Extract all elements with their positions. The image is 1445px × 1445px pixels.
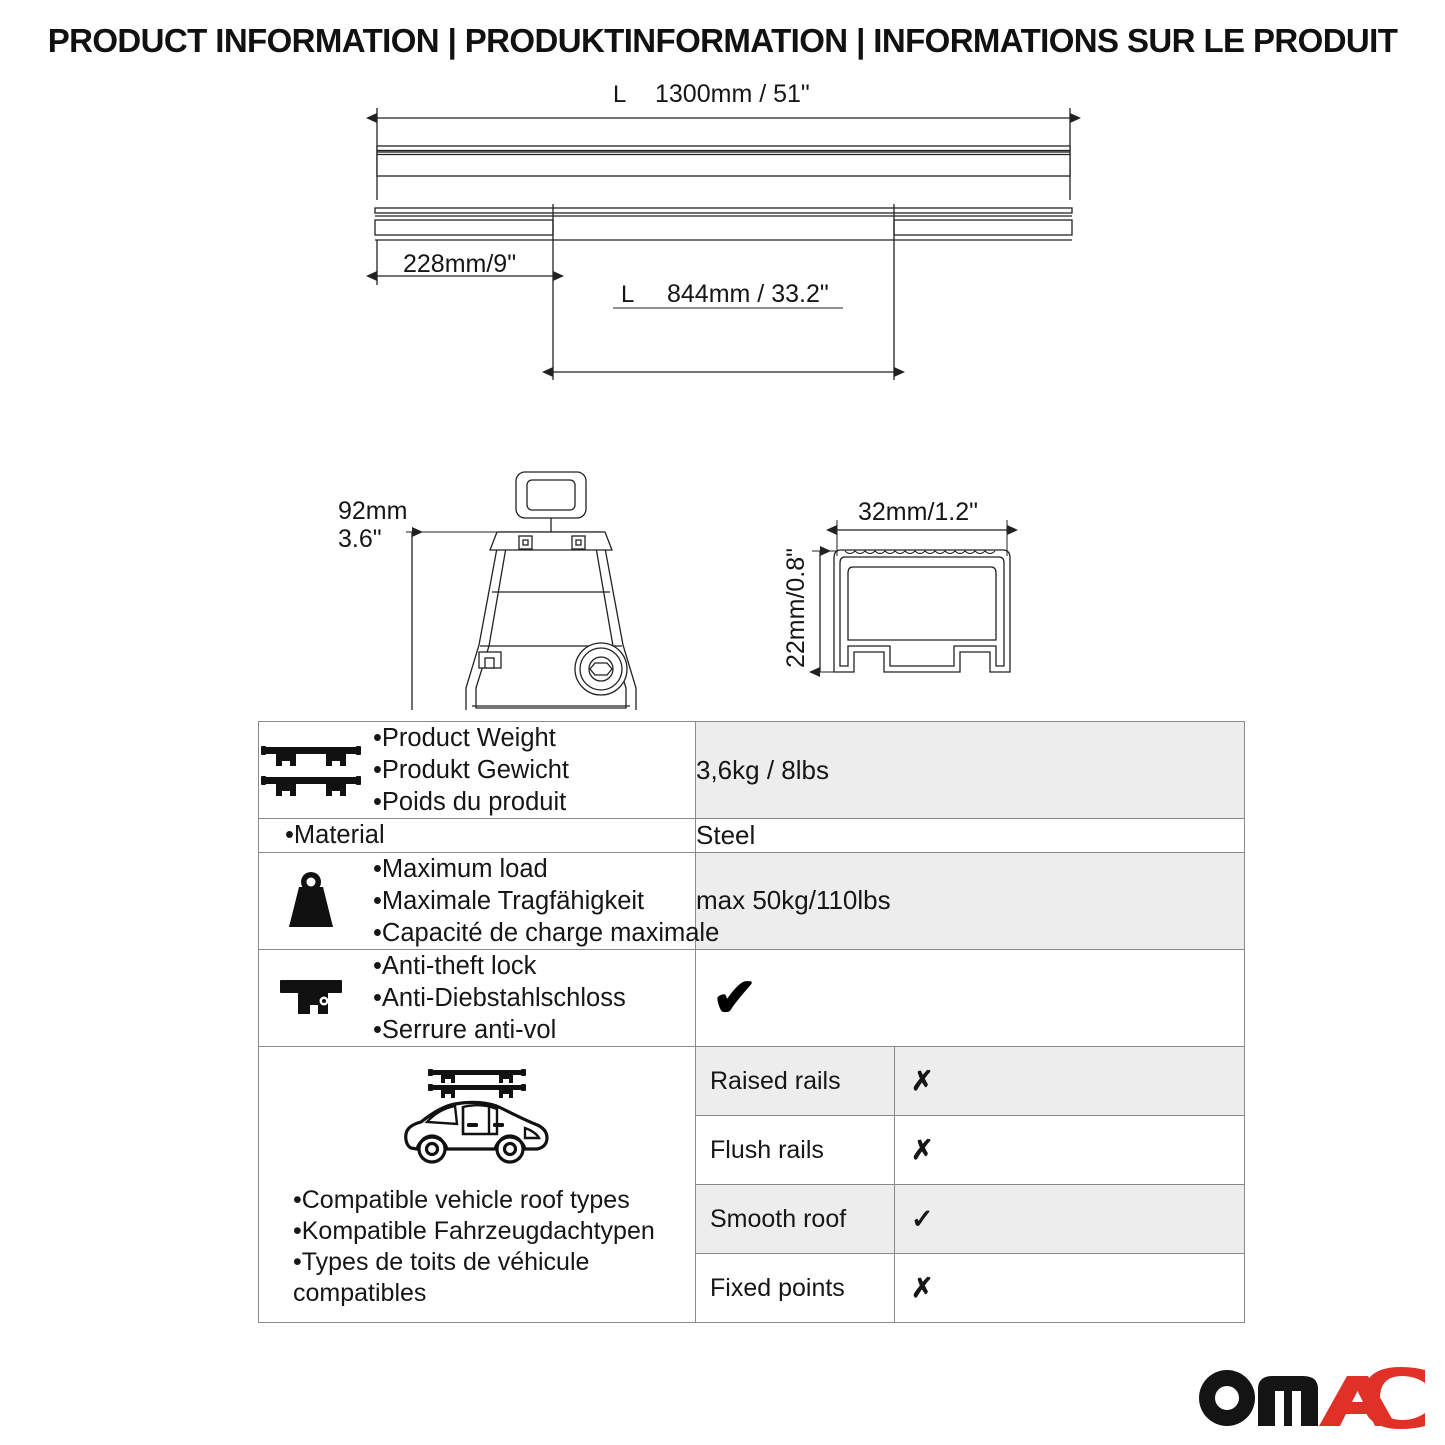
bar-length-value: 1300mm / 51" — [655, 80, 810, 108]
table-row: •Anti-theft lock •Anti-Diebstahlschloss … — [259, 949, 1245, 1046]
roof-label-fr: •Types de toits de véhicule — [293, 1247, 695, 1278]
spec-label-de: •Produkt Gewicht — [373, 754, 569, 786]
spec-label-de: •Anti-Diebstahlschloss — [373, 982, 626, 1014]
technical-drawings: L 1300mm / 51" 228mm/9" L 844mm / 33.2" … — [0, 80, 1445, 710]
specifications-table: •Product Weight •Produkt Gewicht •Poids … — [258, 721, 1245, 1323]
lock-labels: •Anti-theft lock •Anti-Diebstahlschloss … — [373, 950, 626, 1046]
spec-label-de: •Maximale Tragfähigkeit — [373, 885, 719, 917]
spec-label-en: •Material — [285, 819, 385, 851]
foot-offset-label: 228mm/9" — [403, 250, 516, 278]
material-labels: •Material — [259, 819, 385, 851]
spec-label-fr: •Poids du produit — [373, 786, 569, 818]
roof-types-label-cell: •Compatible vehicle roof types •Kompatib… — [259, 1047, 696, 1323]
weight-icon — [259, 870, 363, 932]
lock-value-cell: ✔ — [696, 949, 1245, 1046]
table-row: •Compatible vehicle roof types •Kompatib… — [259, 1047, 1245, 1323]
foot-height-line1: 92mm — [338, 497, 407, 525]
roof-type-row: Smooth roof ✓ — [696, 1185, 1244, 1254]
roof-types-subtable-host: Raised rails ✗ Flush rails ✗ Smooth roof… — [696, 1047, 1245, 1323]
profile-height-label: 22mm/0.8" — [782, 548, 810, 668]
spec-label-en: •Maximum load — [373, 853, 719, 885]
spec-label-en: •Anti-theft lock — [373, 950, 626, 982]
lock-icon — [259, 974, 363, 1022]
foot-height-line2: 3.6" — [338, 525, 382, 553]
omac-logo — [1195, 1367, 1427, 1429]
spec-label-fr: •Capacité de charge maximale — [373, 917, 719, 949]
spec-label-cell: •Maximum load •Maximale Tragfähigkeit •C… — [259, 852, 696, 949]
page-title: PRODUCT INFORMATION | PRODUKTINFORMATION… — [0, 22, 1445, 60]
profile-width-label: 32mm/1.2" — [858, 498, 978, 526]
crossbars-icon — [259, 741, 363, 799]
drawings-svg: L 1300mm / 51" 228mm/9" L 844mm / 33.2" … — [0, 80, 1445, 710]
bar-length-prefix: L — [613, 81, 626, 108]
roof-type-support: ✗ — [895, 1116, 1245, 1185]
maxload-value: max 50kg/110lbs — [696, 852, 1245, 949]
material-value: Steel — [696, 819, 1245, 852]
table-row: •Maximum load •Maximale Tragfähigkeit •C… — [259, 852, 1245, 949]
roof-type-support: ✗ — [895, 1047, 1245, 1116]
roof-types-table: Raised rails ✗ Flush rails ✗ Smooth roof… — [696, 1047, 1244, 1322]
spec-label-cell: •Anti-theft lock •Anti-Diebstahlschloss … — [259, 949, 696, 1046]
roof-type-row: Fixed points ✗ — [696, 1254, 1244, 1323]
check-icon: ✔ — [696, 971, 1244, 1025]
roof-type-name: Smooth roof — [696, 1185, 895, 1254]
car-with-roof-rack-icon — [397, 1064, 557, 1173]
roof-type-name: Flush rails — [696, 1116, 895, 1185]
span-prefix: L — [621, 281, 634, 308]
maxload-labels: •Maximum load •Maximale Tragfähigkeit •C… — [373, 853, 719, 949]
span-value: 844mm / 33.2" — [667, 280, 829, 308]
spec-label-cell: •Product Weight •Produkt Gewicht •Poids … — [259, 722, 696, 819]
omac-logo-svg — [1195, 1367, 1427, 1429]
roof-type-support: ✗ — [895, 1254, 1245, 1323]
spec-label-en: •Product Weight — [373, 722, 569, 754]
roof-type-support: ✓ — [895, 1185, 1245, 1254]
weight-labels: •Product Weight •Produkt Gewicht •Poids … — [373, 722, 569, 818]
spec-label-cell: •Material — [259, 819, 696, 852]
table-row: •Material Steel — [259, 819, 1245, 852]
roof-label-de: •Kompatible Fahrzeugdachtypen — [293, 1216, 695, 1247]
roof-type-row: Raised rails ✗ — [696, 1047, 1244, 1116]
weight-value: 3,6kg / 8lbs — [696, 722, 1245, 819]
table-row: •Product Weight •Produkt Gewicht •Poids … — [259, 722, 1245, 819]
roof-type-name: Fixed points — [696, 1254, 895, 1323]
roof-type-row: Flush rails ✗ — [696, 1116, 1244, 1185]
roof-label-en: •Compatible vehicle roof types — [293, 1185, 695, 1216]
roof-type-name: Raised rails — [696, 1047, 895, 1116]
roof-label-fr-cont: compatibles — [293, 1278, 695, 1309]
roof-types-labels: •Compatible vehicle roof types •Kompatib… — [259, 1185, 695, 1309]
spec-label-fr: •Serrure anti-vol — [373, 1014, 626, 1046]
